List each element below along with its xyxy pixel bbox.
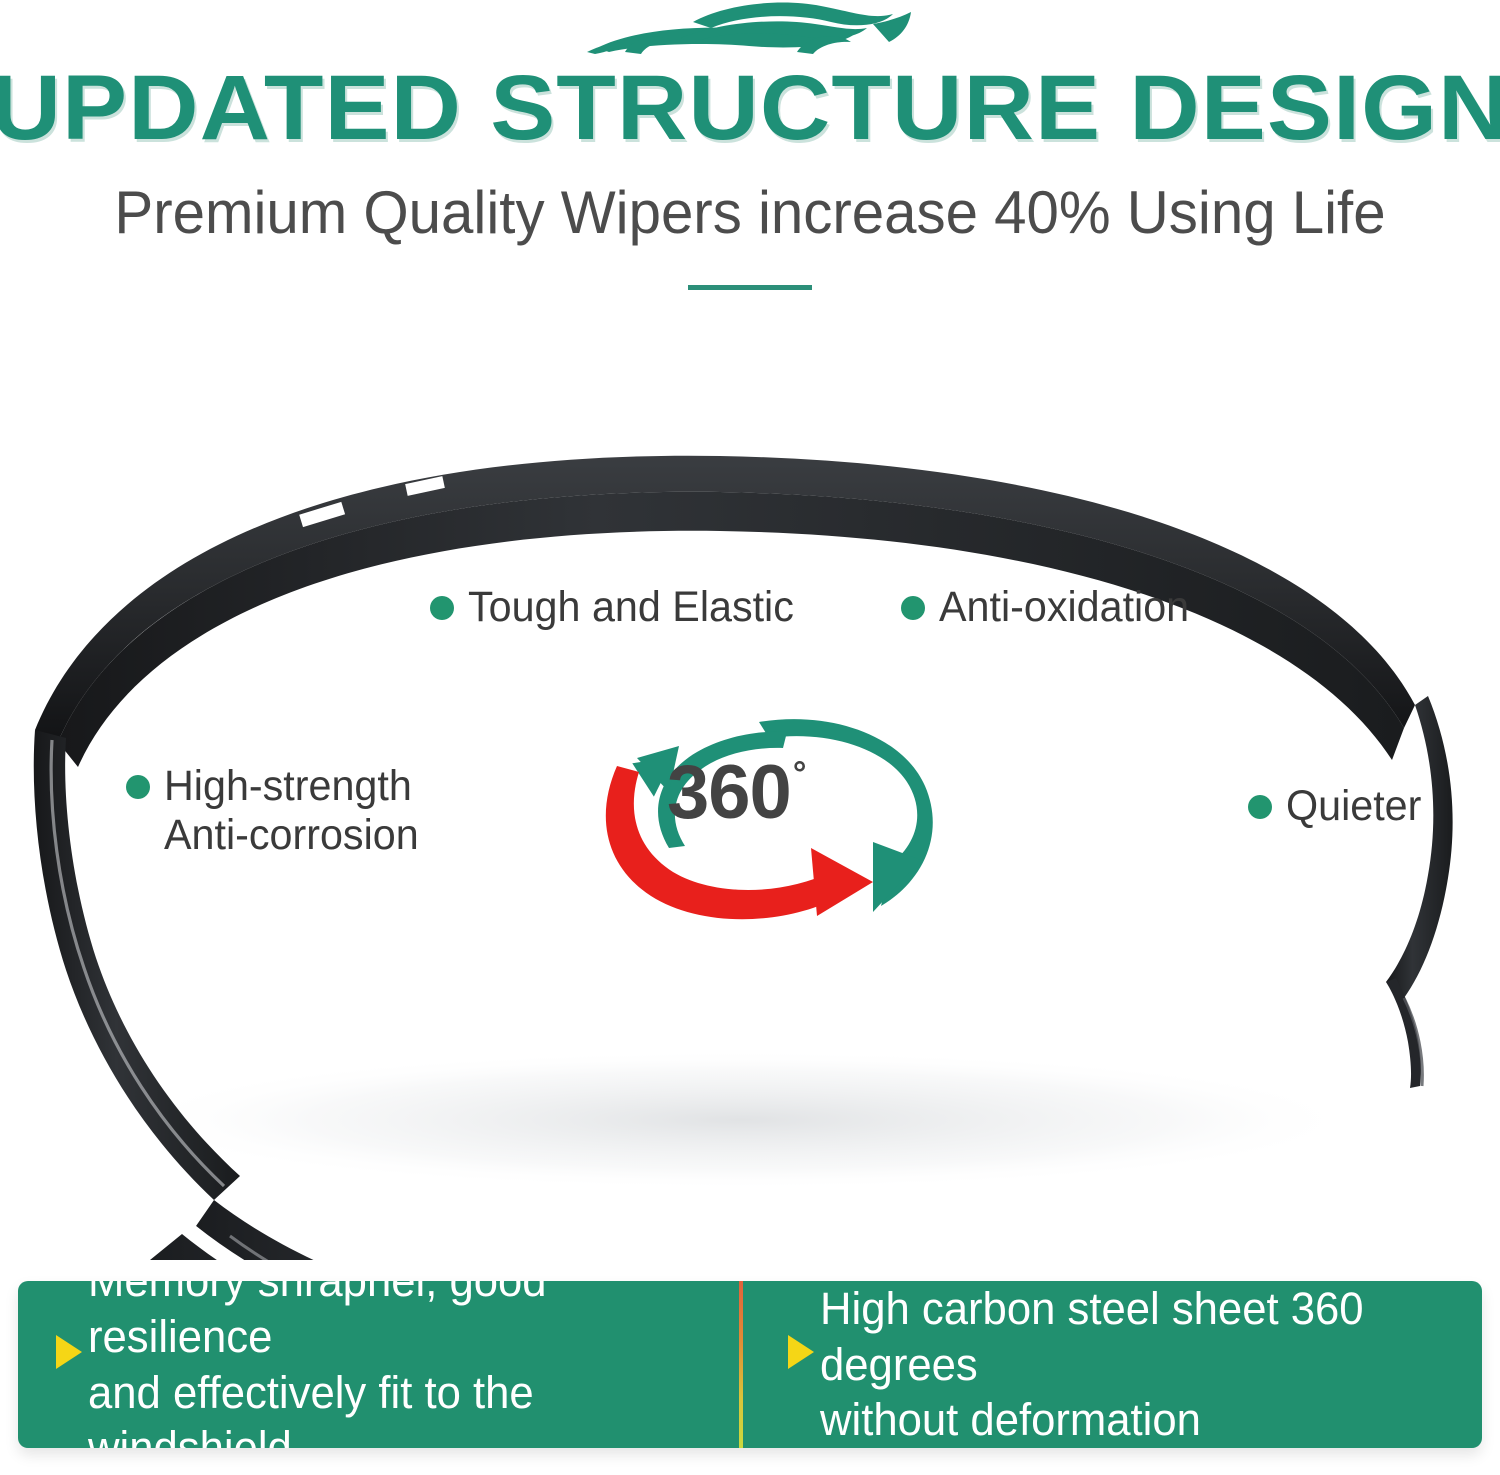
page-subtitle: Premium Quality Wipers increase 40% Usin… [23, 183, 1478, 243]
feature-tough-and-elastic: Tough and Elastic [430, 583, 807, 632]
feature-quieter: Quieter [1248, 782, 1427, 831]
bullet-dot-icon [901, 596, 925, 620]
feature-high-strength-anti-corrosion: High-strength Anti-corrosion [126, 762, 429, 860]
bullet-dot-icon [1248, 795, 1272, 819]
infographic-page: UPDATED STRUCTURE DESIGN Premium Quality… [0, 0, 1500, 1475]
feature-label: Quieter [1286, 782, 1421, 831]
title-divider-rule [688, 285, 812, 290]
feature-label: High-strength Anti-corrosion [164, 762, 419, 860]
banner-item-memory-shrapnel: Memory shrapnel, good resilience and eff… [18, 1281, 750, 1448]
feature-label: Anti-oxidation [939, 583, 1189, 632]
car-silhouette-logo-icon [585, 2, 915, 64]
banner-item-text: High carbon steel sheet 360 degrees with… [820, 1281, 1449, 1448]
degree-symbol: ° [793, 755, 806, 793]
badge-value: 360° [667, 755, 803, 831]
rotation-360-badge: 360° [573, 700, 953, 930]
banner-item-text: Memory shrapnel, good resilience and eff… [88, 1281, 717, 1448]
triangle-arrow-icon [56, 1335, 82, 1369]
feature-label: Tough and Elastic [468, 583, 794, 632]
badge-number: 360 [667, 750, 791, 835]
feature-anti-oxidation: Anti-oxidation [901, 583, 1200, 632]
bullet-dot-icon [430, 596, 454, 620]
bullet-dot-icon [126, 775, 150, 799]
page-title: UPDATED STRUCTURE DESIGN [0, 62, 1500, 154]
banner-item-high-carbon-steel: High carbon steel sheet 360 degrees with… [750, 1281, 1482, 1448]
triangle-arrow-icon [788, 1335, 814, 1369]
banner-divider [739, 1281, 743, 1448]
bottom-feature-banner: Memory shrapnel, good resilience and eff… [18, 1281, 1482, 1448]
